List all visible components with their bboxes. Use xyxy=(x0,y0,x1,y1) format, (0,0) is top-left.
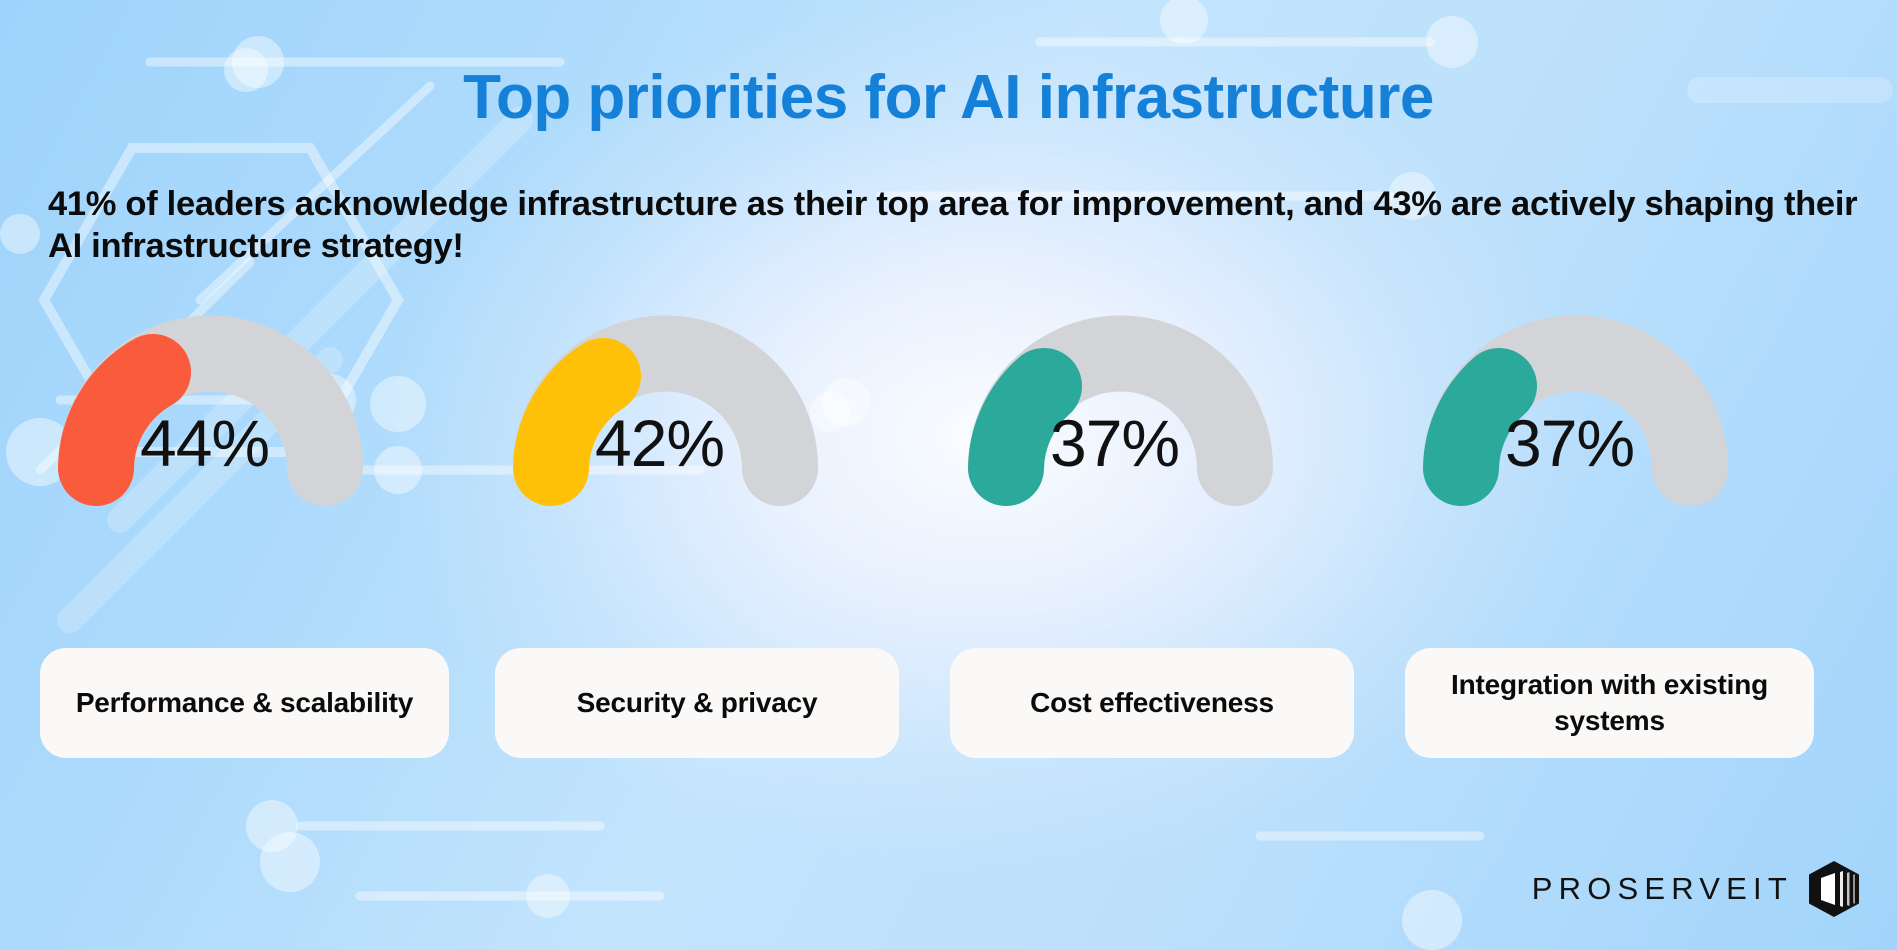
category-card-performance: Performance & scalability xyxy=(40,648,449,758)
category-card-label: Integration with existing systems xyxy=(1427,667,1792,740)
gauge-progress-arc xyxy=(1006,386,1044,468)
logo-wordmark: PROSERVEIT xyxy=(1532,871,1793,907)
infographic-canvas: Top priorities for AI infrastructure 41%… xyxy=(0,0,1897,950)
label-card-row: Performance & scalability Security & pri… xyxy=(40,648,1860,758)
label-card-cell: Performance & scalability xyxy=(40,648,495,758)
gauge-item: 44% xyxy=(40,318,495,493)
hexagon-cube-icon xyxy=(1807,860,1861,918)
label-card-cell: Cost effectiveness xyxy=(950,648,1405,758)
gauge-value-label: 37% xyxy=(1505,410,1634,476)
gauge-value-label: 37% xyxy=(1050,410,1179,476)
gauge-value-label: 42% xyxy=(595,410,724,476)
gauge-item: 42% xyxy=(495,318,950,493)
category-card-label: Security & privacy xyxy=(577,685,818,721)
page-title: Top priorities for AI infrastructure xyxy=(0,62,1897,133)
category-card-cost: Cost effectiveness xyxy=(950,648,1354,758)
label-card-cell: Integration with existing systems xyxy=(1405,648,1860,758)
brand-logo: PROSERVEIT xyxy=(1532,860,1861,918)
gauge-item: 37% xyxy=(1405,318,1860,493)
subtitle-text: 41% of leaders acknowledge infrastructur… xyxy=(48,183,1858,267)
gauge-row: 44% 42% 37% xyxy=(40,318,1860,493)
category-card-integration: Integration with existing systems xyxy=(1405,648,1814,758)
category-card-label: Cost effectiveness xyxy=(1030,685,1274,721)
category-card-security: Security & privacy xyxy=(495,648,899,758)
gauge-item: 37% xyxy=(950,318,1405,493)
gauge-value-label: 44% xyxy=(140,410,269,476)
gauge-progress-arc xyxy=(1461,386,1499,468)
category-card-label: Performance & scalability xyxy=(76,685,413,721)
label-card-cell: Security & privacy xyxy=(495,648,950,758)
